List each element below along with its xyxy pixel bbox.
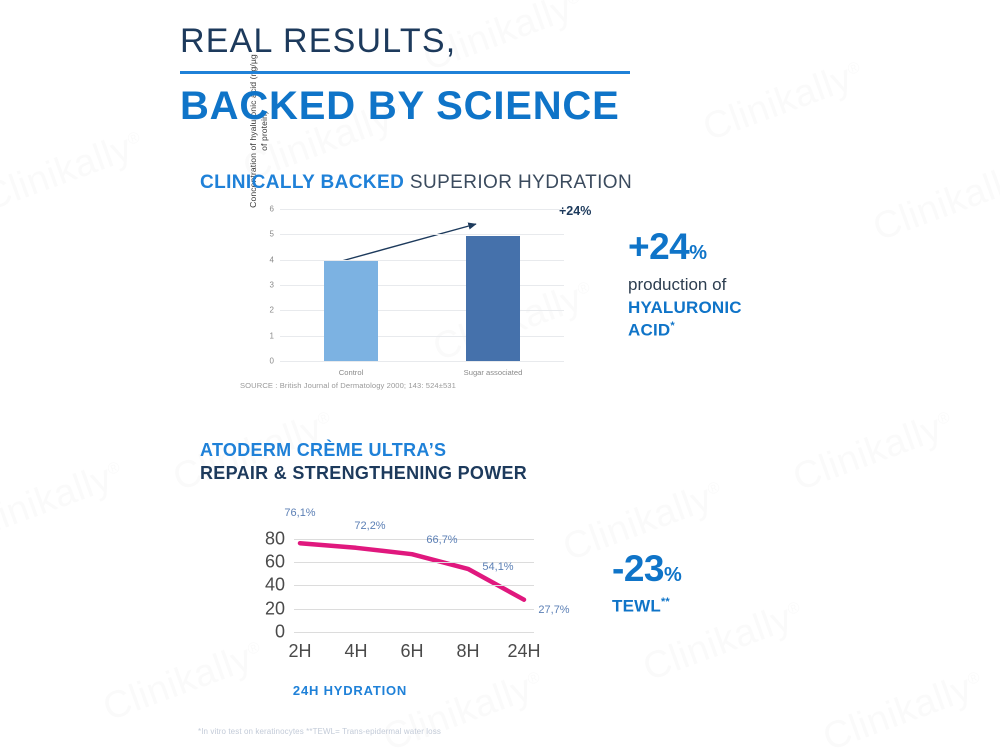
chart1-xtick-label: Control xyxy=(339,368,363,377)
watermark-clinikally: Clinikally® xyxy=(378,663,550,750)
tewl-hydration-line-chart: 0204060802H76,1%4H72,2%6H66,7%8H54,1%24H… xyxy=(250,495,550,665)
watermark-clinikally: Clinikally® xyxy=(98,633,270,731)
chart2-xaxis-title: 24H HYDRATION xyxy=(293,683,407,698)
chart1-ytick-label: 1 xyxy=(270,331,274,340)
chart1-ytick-label: 0 xyxy=(270,357,274,366)
stat1-number: +24 xyxy=(628,226,689,267)
chart2-gridline xyxy=(294,585,534,586)
stat1-footnote-marker: * xyxy=(670,320,674,332)
chart1-callout-label: +24% xyxy=(559,204,591,218)
chart1-ytick-label: 5 xyxy=(270,230,274,239)
stat2-number: -23 xyxy=(612,548,664,589)
watermark-clinikally: Clinikally® xyxy=(0,123,150,221)
chart1-ytick-label: 2 xyxy=(270,306,274,315)
chart1-bar xyxy=(466,236,520,361)
watermark-clinikally: Clinikally® xyxy=(868,153,1000,251)
watermark-clinikally: Clinikally® xyxy=(818,663,990,750)
chart1-ytick-label: 6 xyxy=(270,205,274,214)
section1-heading-strong: CLINICALLY BACKED xyxy=(200,172,404,193)
chart2-line-series xyxy=(294,527,534,632)
chart2-gridline xyxy=(294,632,534,633)
chart2-ytick-label: 20 xyxy=(265,598,285,619)
chart2-ytick-label: 80 xyxy=(265,528,285,549)
stat1-unit: % xyxy=(689,242,706,264)
chart2-xtick-label: 8H xyxy=(456,641,479,662)
watermark-clinikally: Clinikally® xyxy=(788,403,960,501)
hyaluronic-acid-bar-chart: Concentration of hyaluronic acid (ng/µg … xyxy=(238,203,568,383)
section1-heading: CLINICALLY BACKED SUPERIOR HYDRATION xyxy=(200,172,632,194)
chart2-ytick-label: 60 xyxy=(265,552,285,573)
poster-root: Clinikally®Clinikally®Clinikally®Clinika… xyxy=(0,0,1000,750)
stat2-unit: % xyxy=(664,564,681,586)
chart1-gridline xyxy=(280,209,564,210)
section2-heading-line1: ATODERM CRÈME ULTRA’S xyxy=(200,439,527,462)
chart2-xtick-label: 2H xyxy=(288,641,311,662)
stat1-strong-line1: HYALURONIC xyxy=(628,297,742,319)
stat1-strong-line2: ACID* xyxy=(628,319,742,342)
chart1-gridline xyxy=(280,260,564,261)
chart1-plot-area: +24% 0123456ControlSugar associated xyxy=(280,209,564,361)
page-title-line2: BACKED BY SCIENCE xyxy=(180,84,630,128)
chart1-bar xyxy=(324,261,378,361)
chart1-xtick-label: Sugar associated xyxy=(464,368,523,377)
chart1-gridline xyxy=(280,234,564,235)
chart1-ytick-label: 4 xyxy=(270,255,274,264)
chart2-xtick-label: 4H xyxy=(344,641,367,662)
chart2-data-label: 72,2% xyxy=(354,520,385,532)
stat1-strong-text: ACID xyxy=(628,321,670,340)
chart1-ytick-label: 3 xyxy=(270,281,274,290)
chart1-source-note: SOURCE : British Journal of Dermatology … xyxy=(240,381,456,390)
stat-block-tewl: -23% TEWL** xyxy=(612,550,681,618)
stat2-label: TEWL** xyxy=(612,595,681,618)
chart2-data-label: 76,1% xyxy=(284,507,315,519)
chart2-data-label: 54,1% xyxy=(482,561,513,573)
page-title-line1: REAL RESULTS, xyxy=(180,22,630,61)
watermark-clinikally: Clinikally® xyxy=(698,53,870,151)
chart2-data-label: 27,7% xyxy=(538,604,569,616)
stat2-footnote-marker: ** xyxy=(661,596,670,608)
watermark-clinikally: Clinikally® xyxy=(0,453,130,551)
section1-heading-light: SUPERIOR HYDRATION xyxy=(404,172,632,193)
chart1-gridline xyxy=(280,361,564,362)
chart2-data-label: 66,7% xyxy=(426,534,457,546)
chart2-xtick-label: 6H xyxy=(400,641,423,662)
footnote-text: *In vitro test on keratinocytes **TEWL= … xyxy=(198,727,441,736)
poster-header: REAL RESULTS, BACKED BY SCIENCE xyxy=(180,22,630,128)
chart2-xtick-label: 24H xyxy=(507,641,540,662)
section2-heading: ATODERM CRÈME ULTRA’S REPAIR & STRENGTHE… xyxy=(200,439,527,486)
chart2-ytick-label: 40 xyxy=(265,575,285,596)
chart1-gridline xyxy=(280,336,564,337)
stat1-subtitle: production of xyxy=(628,274,742,297)
stat-block-hyaluronic: +24% production of HYALURONIC ACID* xyxy=(628,228,742,342)
chart2-gridline xyxy=(294,609,534,610)
stat2-label-text: TEWL xyxy=(612,597,661,616)
chart1-gridline xyxy=(280,310,564,311)
section2-heading-line2: REPAIR & STRENGTHENING POWER xyxy=(200,462,527,485)
chart2-ytick-label: 0 xyxy=(275,622,285,643)
title-divider xyxy=(180,71,630,74)
chart1-gridline xyxy=(280,285,564,286)
chart2-gridline xyxy=(294,539,534,540)
stat1-value: +24% xyxy=(628,228,742,265)
stat2-value: -23% xyxy=(612,550,681,587)
chart2-plot-area: 0204060802H76,1%4H72,2%6H66,7%8H54,1%24H… xyxy=(294,527,534,632)
